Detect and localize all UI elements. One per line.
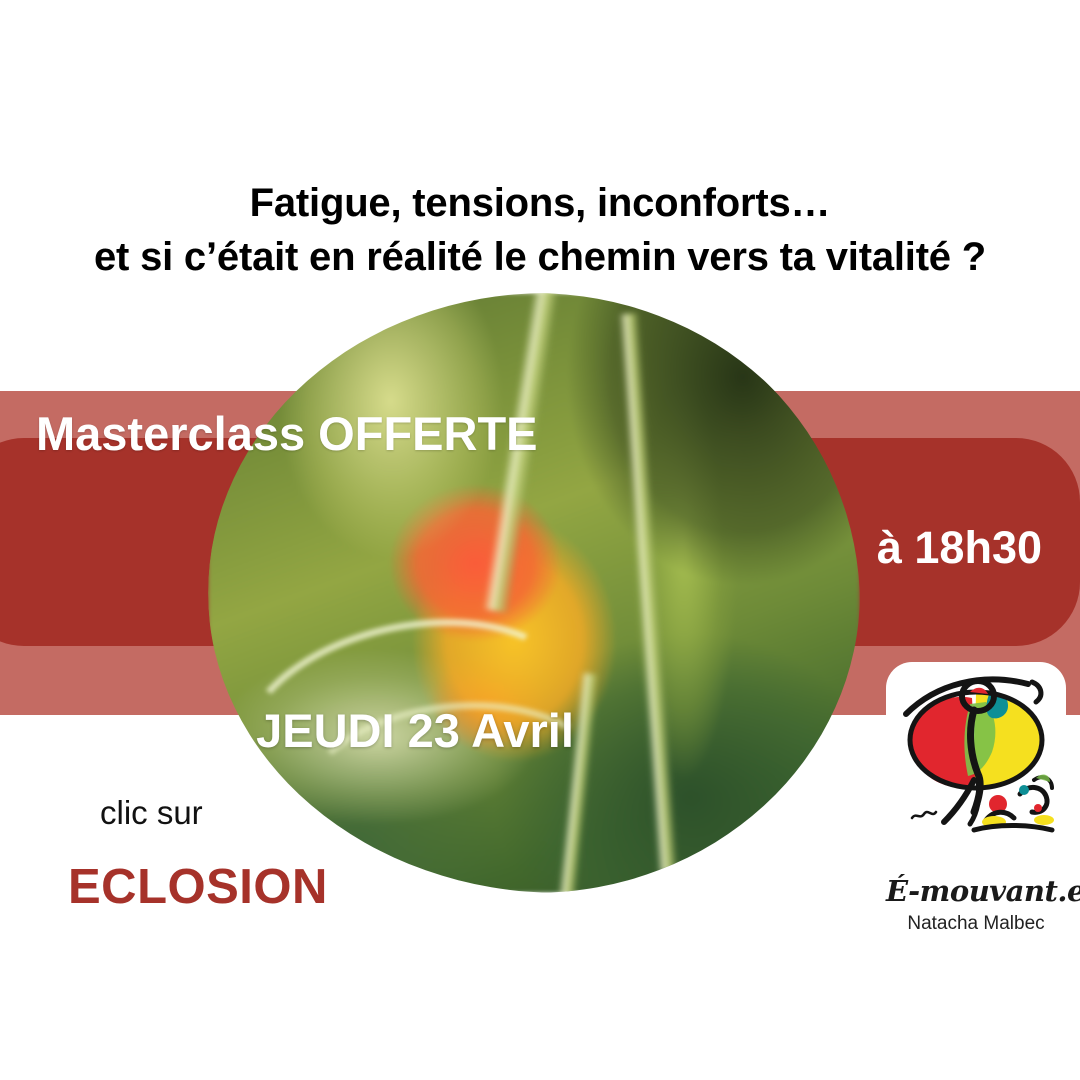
e-mouvante-dancer-icon [886, 662, 1066, 842]
cta-eclosion-button[interactable]: ECLOSION [68, 858, 328, 916]
rose-photo [208, 293, 860, 893]
cta-prefix: clic sur [100, 793, 203, 833]
poster-canvas: Fatigue, tensions, inconforts… et si c’é… [0, 0, 1080, 1080]
date-label: JEUDI 23 Avril [0, 702, 830, 760]
headline-line-1: Fatigue, tensions, inconforts… [0, 176, 1080, 230]
offer-label: Masterclass OFFERTE [36, 406, 538, 462]
logo-wordmark: É-mouvant.e [886, 874, 1066, 908]
page-title: Fatigue, tensions, inconforts… et si c’é… [0, 176, 1080, 284]
logo-subtitle: Natacha Malbec [886, 912, 1066, 936]
logo-card[interactable] [886, 662, 1066, 842]
time-label: à 18h30 [877, 521, 1042, 575]
headline-line-2: et si c’était en réalité le chemin vers … [0, 230, 1080, 284]
